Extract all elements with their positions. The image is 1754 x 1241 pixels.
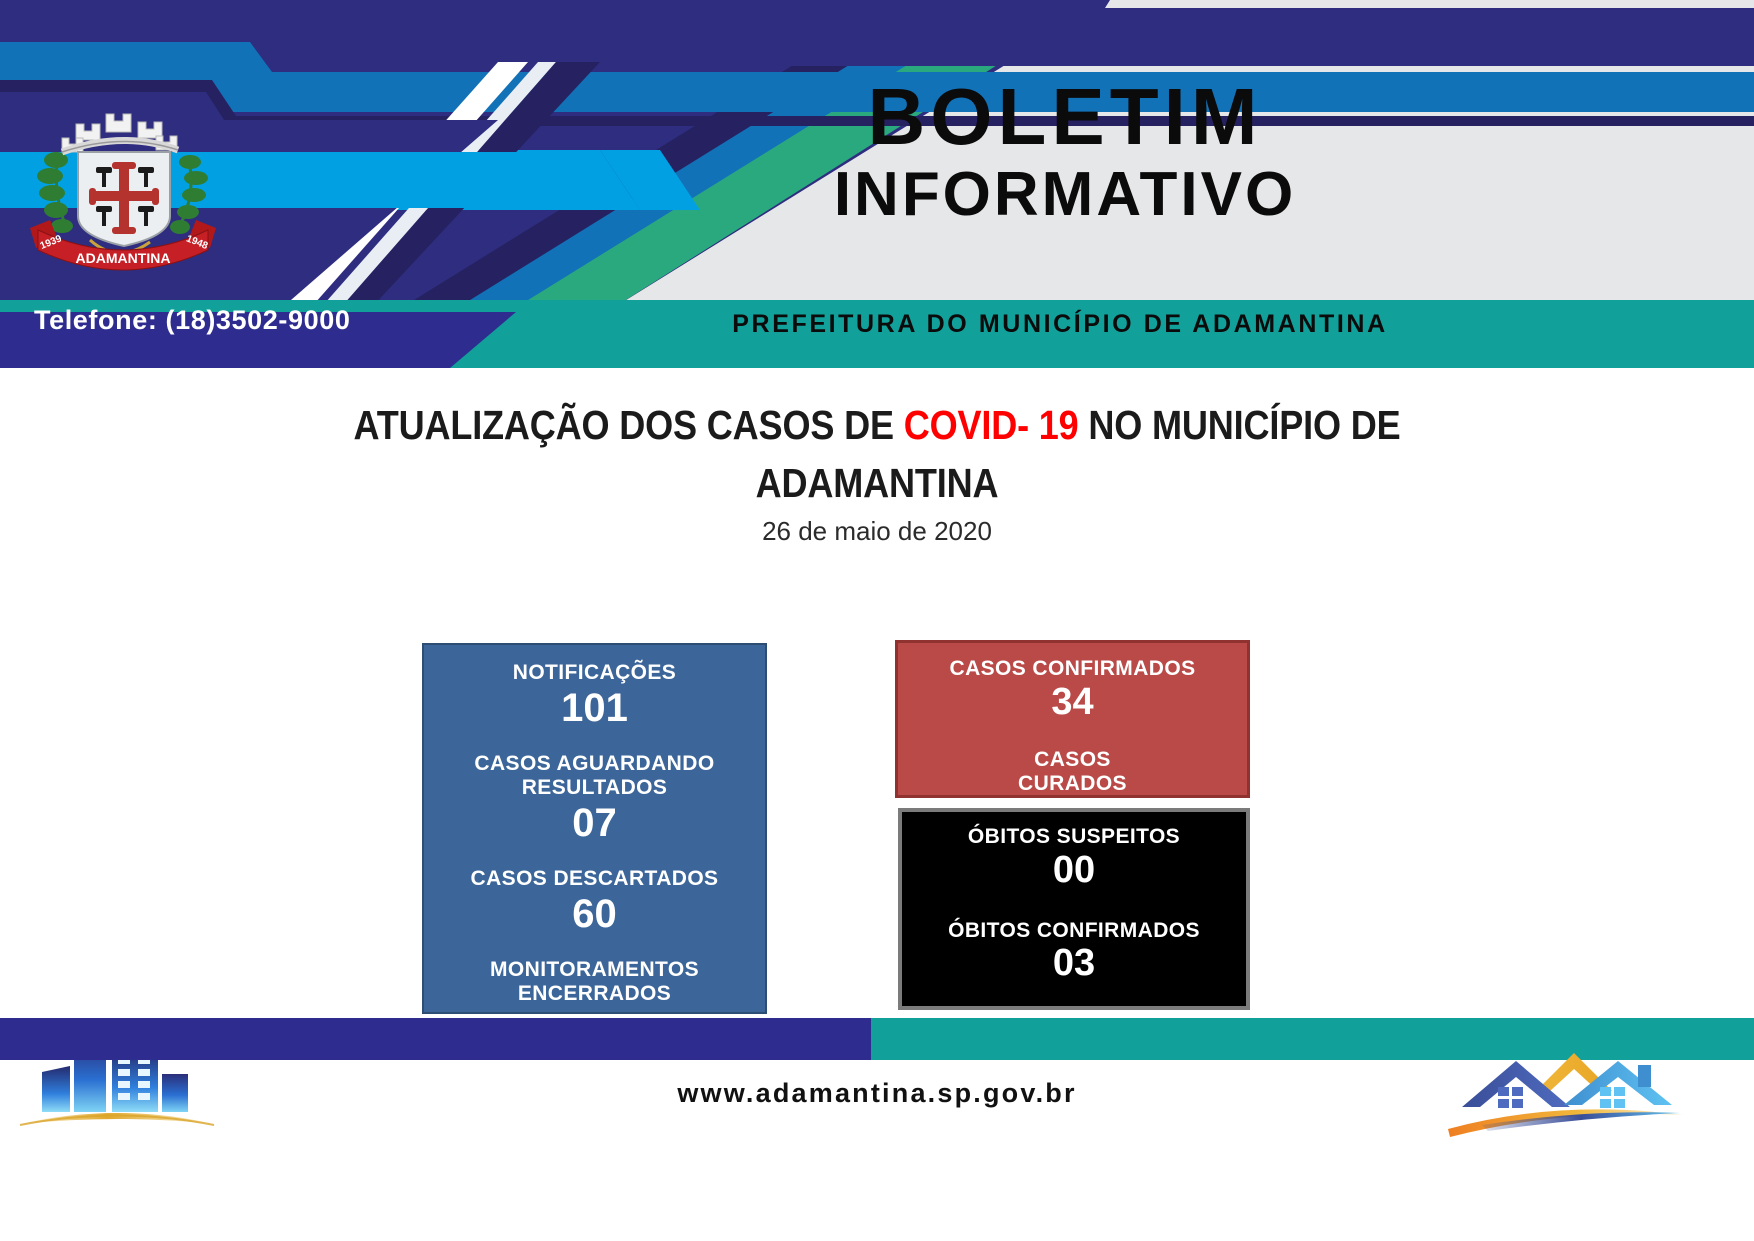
stat-label-monitoramentos-line1: MONITORAMENTOS: [424, 958, 765, 983]
stat-label-notificacoes: NOTIFICAÇÕES: [424, 661, 765, 686]
stat-group-aguardando-resultados: CASOS AGUARDANDO RESULTADOS 07: [424, 752, 765, 845]
adamantina-coat-of-arms: ADAMANTINA 1939 1948: [18, 100, 228, 280]
houses-icon: [1448, 1025, 1738, 1170]
header-banner: ADAMANTINA 1939 1948 Telefone: (18)3502-…: [0, 0, 1754, 368]
stat-label-monitoramentos-line2: ENCERRADOS: [424, 982, 765, 1007]
stat-label-obitos-confirmados: ÓBITOS CONFIRMADOS: [902, 919, 1246, 944]
stat-label-descartados: CASOS DESCARTADOS: [424, 867, 765, 892]
stat-label-obitos-suspeitos: ÓBITOS SUSPEITOS: [902, 825, 1246, 850]
boletim-poster: ADAMANTINA 1939 1948 Telefone: (18)3502-…: [0, 0, 1754, 1241]
boletim-title-line2: INFORMATIVO: [640, 156, 1490, 234]
stat-box-black: ÓBITOS SUSPEITOS 00 ÓBITOS CONFIRMADOS 0…: [898, 808, 1250, 1010]
stat-label-aguardando-line2: RESULTADOS: [424, 776, 765, 801]
stat-value-obitos-confirmados: 03: [902, 943, 1246, 984]
stat-box-red: CASOS CONFIRMADOS 34 CASOS CURADOS 13: [895, 640, 1250, 798]
stat-label-confirmados: CASOS CONFIRMADOS: [898, 657, 1247, 682]
stat-value-obitos-suspeitos: 00: [902, 850, 1246, 891]
stat-box-blue: NOTIFICAÇÕES 101 CASOS AGUARDANDO RESULT…: [422, 643, 767, 1014]
stat-label-aguardando-line1: CASOS AGUARDANDO: [424, 752, 765, 777]
stat-label-curados-line2: CURADOS: [898, 772, 1247, 797]
prefeitura-subtitle: PREFEITURA DO MUNICÍPIO DE ADAMANTINA: [560, 310, 1560, 339]
boletim-title-block: BOLETIM INFORMATIVO: [640, 78, 1490, 234]
stat-label-curados-line1: CASOS: [898, 748, 1247, 773]
stat-value-descartados: 60: [424, 893, 765, 936]
boletim-title-line1: BOLETIM: [640, 78, 1490, 156]
page-title: ATUALIZAÇÃO DOS CASOS DE COVID- 19 NO MU…: [261, 396, 1493, 512]
stat-group-confirmados: CASOS CONFIRMADOS 34: [898, 657, 1247, 723]
footer-band-navy: [0, 1018, 871, 1060]
title-part1: ATUALIZAÇÃO DOS CASOS DE: [354, 402, 904, 448]
stat-value-notificacoes: 101: [424, 687, 765, 730]
stat-group-descartados: CASOS DESCARTADOS 60: [424, 867, 765, 936]
stat-value-aguardando-resultados: 07: [424, 802, 765, 845]
stat-group-notificacoes: NOTIFICAÇÕES 101: [424, 661, 765, 730]
title-covid-highlight: COVID- 19: [904, 402, 1079, 448]
website-url: www.adamantina.sp.gov.br: [377, 1078, 1377, 1109]
stat-value-confirmados: 34: [898, 682, 1247, 723]
crest-city-name: ADAMANTINA: [76, 250, 171, 266]
bulletin-date: 26 de maio de 2020: [377, 516, 1377, 547]
stat-group-obitos-confirmados: ÓBITOS CONFIRMADOS 03: [902, 919, 1246, 985]
phone-number: Telefone: (18)3502-9000: [34, 305, 504, 336]
stat-group-obitos-suspeitos: ÓBITOS SUSPEITOS 00: [902, 825, 1246, 891]
